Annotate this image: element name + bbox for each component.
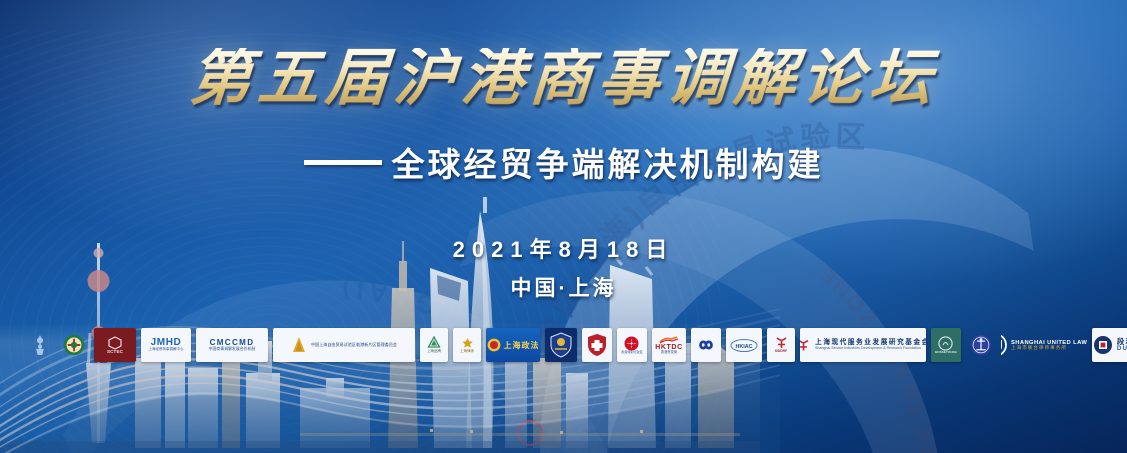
logo-shanghai-zhengfa-label: 上海政法: [504, 340, 540, 351]
logo-hkmediation: [691, 328, 721, 362]
logo-duan-name-en: DUAN & DUAN: [1117, 346, 1127, 352]
ftz-gold-mark-icon: [291, 336, 307, 354]
logo-cmccmd-name: 中国商事调解发展合作机制: [209, 347, 256, 351]
logo-shanghai-lawyers-name: 上海律师: [460, 350, 474, 354]
logo-hksar-name: 香港特别行政区: [621, 351, 643, 354]
flowing-light-ribbons: [0, 283, 780, 453]
infinity-icon: [695, 337, 717, 353]
event-location: 中国·上海: [0, 272, 1127, 302]
united-law-mark-icon: [1001, 333, 1007, 357]
logo-ssidrf-mark: SSIDRF: [767, 328, 795, 362]
logo-shanghai-united-law-name-cn: 上海市联合律师事务所: [1011, 346, 1087, 351]
logo-boss-young: BOSS&YOUNG: [931, 328, 961, 362]
top-left-glow: [0, 0, 460, 240]
logo-ssidrf-acronym: SSIDRF: [775, 350, 787, 353]
emblem-icon: [487, 338, 501, 352]
ssidrf-mark-icon: [800, 338, 811, 353]
shield-icon: [586, 333, 608, 357]
logo-hksar-emblem: 香港特别行政区: [617, 328, 647, 362]
logo-shanghai-zhengfa: 上海政法: [486, 328, 540, 362]
logo-jmhd: JMHD 上海经贸商事调解中心: [141, 328, 191, 362]
logo-sctec: SCTEC: [94, 328, 136, 362]
logo-hkiac: HKIAC: [726, 328, 762, 362]
logo-cmccmd: CMCCMD 中国商事调解发展合作机制: [196, 328, 268, 362]
logo-ssidrf-wide: 上海现代服务业发展研究基金会 Shanghai Service Industri…: [800, 328, 926, 362]
logo-shanghai-brand-name: 上海品牌: [427, 350, 441, 354]
sponsor-logo-strip: SCTEC JMHD 上海经贸商事调解中心 CMCCMD 中国商事调解发展合作机…: [26, 325, 1106, 365]
logo-shanghai-ftz-admin: 中国上海自由贸易试验区临港新片区管理委员会: [273, 328, 415, 362]
logo-boss-young-name: BOSS&YOUNG: [935, 351, 957, 354]
page-subtitle: 全球经贸争端解决机制构建: [392, 138, 824, 186]
logo-cmccmd-acronym: CMCCMD: [210, 339, 255, 347]
subtitle-dash: [304, 160, 382, 165]
logo-jmhd-name: 上海经贸商事调解中心: [149, 348, 184, 352]
logo-sctec-label: SCTEC: [107, 350, 123, 355]
logo-shanghai-lawyers: 上海律师: [453, 328, 481, 362]
shanghai-skyline-image: [0, 183, 760, 453]
logo-oriental-pearl-mark: [26, 328, 54, 362]
logo-ssidrf-name-en: Shanghai Service Industries Development …: [815, 347, 926, 351]
police-emblem-icon: [549, 332, 573, 358]
logo-shanghai-united-law: SHANGHAI UNITED LAW FIRM 上海市联合律师事务所: [1001, 328, 1087, 362]
logo-shanghai-brand: 上海品牌: [420, 328, 448, 362]
court-emblem-icon: [970, 331, 992, 359]
logo-ccpit-emblem: [59, 328, 89, 362]
logo-hktdc: HKTDC 香港贸发局: [652, 328, 686, 362]
duan-mark-icon: [1093, 335, 1113, 355]
logo-court-emblem: [966, 328, 996, 362]
page-title: 第五届沪港商事调解论坛: [0, 48, 1127, 110]
event-date: 2021年8月18日: [0, 232, 1127, 264]
subtitle-row: 全球经贸争端解决机制构建: [0, 138, 1127, 186]
logo-shanghai-ftz-admin-name: 中国上海自由贸易试验区临港新片区管理委员会: [311, 342, 397, 348]
logo-hktdc-name: 香港贸发局: [661, 351, 677, 354]
logo-police-emblem: [545, 328, 577, 362]
logo-duan-name-cn: 段和段律师事务所: [1117, 338, 1127, 346]
svg-text:HKIAC: HKIAC: [735, 344, 752, 350]
logo-duan-and-duan: 段和段律师事务所 DUAN & DUAN: [1092, 328, 1127, 362]
conference-banner: 中国(上海)自由贸易试验区 PILOT FREE TRADE ZONE: [0, 0, 1127, 453]
logo-red-cross-mediation: [582, 328, 612, 362]
